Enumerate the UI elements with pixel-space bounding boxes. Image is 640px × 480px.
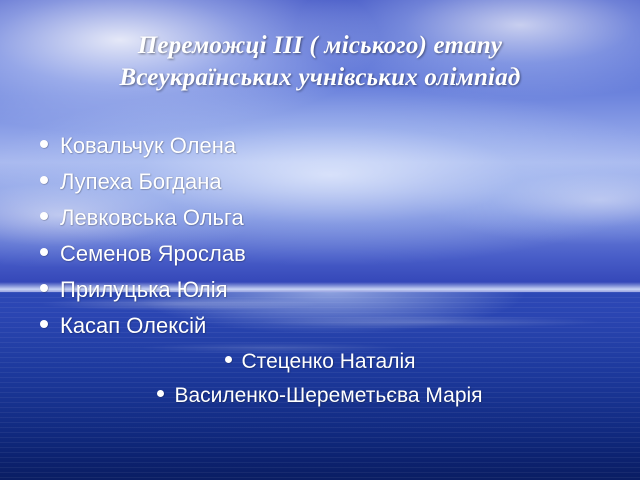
list-item: Семенов Ярослав bbox=[0, 241, 640, 267]
list-item: Левковська Ольга bbox=[0, 205, 640, 231]
list-item-label: Василенко-Шереметьєва Марія bbox=[174, 383, 482, 409]
list-item-label: Прилуцька Юлія bbox=[60, 277, 228, 303]
list-item: Стеценко Наталія bbox=[0, 349, 640, 375]
list-item-label: Левковська Ольга bbox=[60, 205, 244, 231]
list-item: Василенко-Шереметьєва Марія bbox=[0, 383, 640, 409]
list-item-label: Стеценко Наталія bbox=[242, 349, 416, 375]
list-item: Ковальчук Олена bbox=[0, 133, 640, 159]
slide-title-line-2: Всеукраїнських учнівських олімпіад bbox=[28, 62, 612, 94]
bullet-dot-icon bbox=[157, 390, 164, 397]
bullet-dot-icon bbox=[40, 140, 48, 148]
bullet-dot-icon bbox=[40, 284, 48, 292]
bullet-dot-icon bbox=[40, 176, 48, 184]
list-item: Лупеха Богдана bbox=[0, 169, 640, 195]
bullet-list: Ковальчук Олена Лупеха Богдана Левковськ… bbox=[0, 133, 640, 417]
list-item: Прилуцька Юлія bbox=[0, 277, 640, 303]
list-item-label: Семенов Ярослав bbox=[60, 241, 246, 267]
bullet-dot-icon bbox=[40, 248, 48, 256]
bullet-dot-icon bbox=[40, 320, 48, 328]
slide-title-line-1: Переможці III ( міського) етапу bbox=[28, 30, 612, 62]
presentation-slide: Переможці III ( міського) етапу Всеукраї… bbox=[0, 0, 640, 480]
list-item-label: Касап Олексій bbox=[60, 313, 206, 339]
slide-title: Переможці III ( міського) етапу Всеукраї… bbox=[28, 30, 612, 94]
bullet-dot-icon bbox=[40, 212, 48, 220]
list-item: Касап Олексій bbox=[0, 313, 640, 339]
slide-content: Переможці III ( міського) етапу Всеукраї… bbox=[0, 0, 640, 480]
list-item-label: Лупеха Богдана bbox=[60, 169, 222, 195]
bullet-dot-icon bbox=[225, 356, 232, 363]
list-item-label: Ковальчук Олена bbox=[60, 133, 236, 159]
